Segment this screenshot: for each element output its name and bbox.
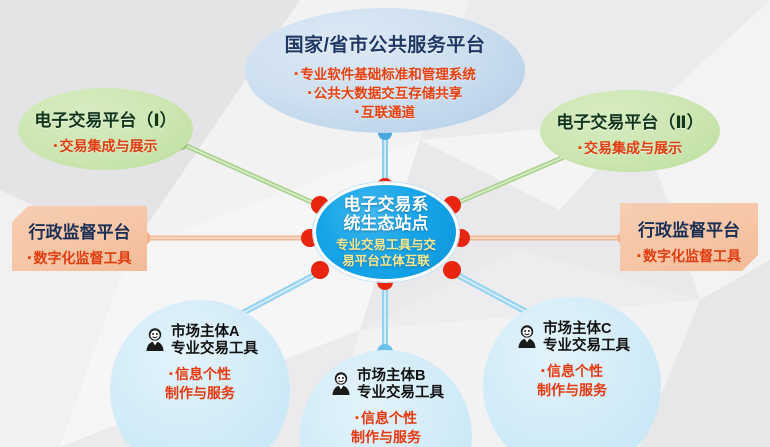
- actor-b-subtitle-line1: ▪信息个性: [300, 409, 472, 427]
- trading-platform-1-title: 电子交易平台（Ⅰ）: [18, 106, 193, 131]
- public-service-title: 国家/省市公共服务平台: [245, 30, 525, 57]
- bullet-icon: ▪: [355, 412, 359, 424]
- bullet-icon: ▪: [54, 140, 58, 152]
- node-core-ecosystem[interactable]: 电子交易系 统生态站点 专业交易工具与交 易平台立体互联: [313, 182, 459, 282]
- actor-c-title: 市场主体C 专业交易工具: [543, 321, 630, 355]
- trading-platform-2-subtitle: ▪交易集成与展示: [540, 138, 720, 158]
- public-service-bullet-1: ▪专业软件基础标准和管理系统: [245, 65, 525, 84]
- supervision-right-subtitle: ▪数字化监督工具: [620, 246, 758, 266]
- diagram-canvas: 国家/省市公共服务平台 ▪专业软件基础标准和管理系统 ▪公共大数据交互存储共享 …: [0, 0, 770, 447]
- actor-a-subtitle-line1: ▪信息个性: [110, 365, 290, 383]
- public-service-bullet-2: ▪公共大数据交互存储共享: [245, 84, 525, 103]
- trading-platform-2-title: 电子交易平台（Ⅱ）: [540, 108, 720, 133]
- bullet-icon: ▪: [578, 142, 582, 154]
- actor-a-title: 市场主体A 专业交易工具: [171, 324, 258, 358]
- hub-dot-sw: [311, 261, 329, 279]
- node-trading-platform-2[interactable]: 电子交易平台（Ⅱ） ▪交易集成与展示: [540, 90, 720, 172]
- public-service-bullet-3: ▪互联通道: [245, 103, 525, 122]
- hub-dot-se: [443, 261, 461, 279]
- node-supervision-left[interactable]: 行政监督平台 ▪数字化监督工具: [12, 206, 147, 271]
- core-subtitle-line1: 专业交易工具与交: [336, 238, 436, 254]
- node-supervision-right[interactable]: 行政监督平台 ▪数字化监督工具: [620, 203, 758, 271]
- supervision-left-title: 行政监督平台: [12, 218, 147, 243]
- actor-b-title: 市场主体B 专业交易工具: [357, 368, 444, 402]
- core-subtitle-line2: 易平台立体互联: [342, 254, 430, 270]
- core-title-line1: 电子交易系: [344, 195, 429, 215]
- person-icon: [328, 370, 354, 401]
- person-icon: [142, 326, 168, 357]
- actor-a-subtitle-line2: 制作与服务: [110, 384, 290, 402]
- actor-c-subtitle-line2: 制作与服务: [483, 381, 661, 399]
- bullet-icon: ▪: [294, 68, 298, 80]
- node-trading-platform-1[interactable]: 电子交易平台（Ⅰ） ▪交易集成与展示: [18, 88, 193, 170]
- bullet-icon: ▪: [637, 250, 641, 262]
- node-public-service-platform[interactable]: 国家/省市公共服务平台 ▪专业软件基础标准和管理系统 ▪公共大数据交互存储共享 …: [245, 8, 525, 133]
- actor-b-subtitle-line2: 制作与服务: [300, 428, 472, 446]
- person-icon: [514, 323, 540, 354]
- actor-c-subtitle-line1: ▪信息个性: [483, 362, 661, 380]
- supervision-right-title: 行政监督平台: [620, 216, 758, 241]
- bullet-icon: ▪: [355, 106, 359, 118]
- actor-b-header: 市场主体B 专业交易工具: [300, 368, 472, 402]
- core-title-line2: 统生态站点: [344, 214, 429, 234]
- trading-platform-1-subtitle: ▪交易集成与展示: [18, 136, 193, 156]
- supervision-left-subtitle: ▪数字化监督工具: [12, 248, 147, 268]
- actor-a-header: 市场主体A 专业交易工具: [110, 324, 290, 358]
- bullet-icon: ▪: [28, 252, 32, 264]
- bullet-icon: ▪: [308, 87, 312, 99]
- actor-c-header: 市场主体C 专业交易工具: [483, 321, 661, 355]
- bullet-icon: ▪: [169, 368, 173, 380]
- bullet-icon: ▪: [541, 365, 545, 377]
